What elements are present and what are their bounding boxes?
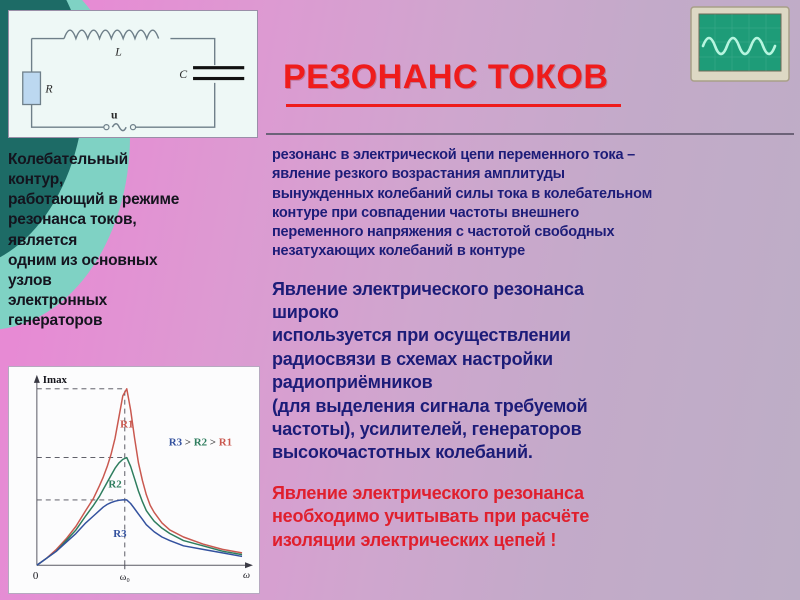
- oscilloscope: [690, 6, 790, 82]
- resistor-symbol: [23, 72, 41, 104]
- oscilloscope-svg: [690, 6, 790, 82]
- resonance-chart-svg: Imax ω 0 ω₀ R1R2R3 R3 > R2 > R1: [9, 367, 259, 593]
- inductor-symbol: [64, 30, 159, 38]
- usage-line: широко: [272, 301, 792, 324]
- definition-line: контуре при совпадении частоты внешнего: [272, 204, 792, 223]
- chart-curve-r2: [37, 458, 242, 566]
- ac-source-symbol: [104, 124, 136, 131]
- left-text-line: одним из основных: [8, 251, 260, 271]
- origin-label: 0: [33, 570, 39, 582]
- title-underline: [286, 104, 621, 107]
- definition-line: переменного напряжения с частотой свобод…: [272, 223, 792, 242]
- usage-line: используется при осуществлении: [272, 324, 792, 347]
- left-text-block: Колебательный контур, работающий в режим…: [8, 150, 260, 331]
- usage-line: Явление электрического резонанса: [272, 278, 792, 301]
- usage-line: радиосвязи в схемах настройки: [272, 348, 792, 371]
- definition-line: вынужденных колебаний силы тока в колеба…: [272, 185, 792, 204]
- slide-title: РЕЗОНАНС ТОКОВ: [283, 58, 608, 97]
- x-axis-arrow: [245, 562, 253, 568]
- left-text-line: является: [8, 231, 260, 251]
- usage-line: частоты), усилителей, генераторов: [272, 418, 792, 441]
- chart-legend-note: R3 > R2 > R1: [169, 436, 232, 448]
- left-text-line: работающий в режиме: [8, 190, 260, 210]
- x-axis-label: ω: [243, 570, 250, 581]
- definition-paragraph: резонанс в электрической цепи переменног…: [272, 146, 792, 262]
- header-divider: [266, 133, 794, 135]
- usage-line: радиоприёмников: [272, 371, 792, 394]
- circuit-diagram-panel: L R C u: [8, 10, 258, 138]
- warning-line: необходимо учитывать при расчёте: [272, 505, 792, 528]
- series-label-r1: R1: [120, 419, 133, 431]
- warning-line: Явление электрического резонанса: [272, 482, 792, 505]
- left-text-line: узлов: [8, 271, 260, 291]
- legend-inequality: R3 > R2 > R1: [169, 436, 232, 448]
- left-text-line: электронных: [8, 291, 260, 311]
- chart-curves: [37, 389, 242, 565]
- right-content-column: резонанс в электрической цепи переменног…: [272, 146, 792, 552]
- warning-line: изоляции электрических цепей !: [272, 529, 792, 552]
- definition-line: незатухающих колебаний в контуре: [272, 242, 792, 261]
- definition-line: явление резкого возрастания амплитуды: [272, 165, 792, 184]
- chart-curve-r3: [37, 500, 242, 565]
- usage-paragraph: Явление электрического резонанса широко …: [272, 278, 792, 465]
- left-text-line: контур,: [8, 170, 260, 190]
- left-text-line: Колебательный: [8, 150, 260, 170]
- left-text-line: генераторов: [8, 311, 260, 331]
- chart-series-labels: R1R2R3: [108, 419, 133, 540]
- capacitor-label: C: [179, 67, 187, 81]
- series-rlc-circuit-svg: L R C u: [9, 11, 257, 137]
- y-axis-label: Imax: [43, 374, 68, 386]
- oscilloscope-screen: [699, 14, 781, 71]
- usage-line: (для выделения сигнала требуемой: [272, 395, 792, 418]
- left-text-line: резонанса токов,: [8, 210, 260, 230]
- resistor-label: R: [44, 82, 53, 96]
- resonance-curve-chart: Imax ω 0 ω₀ R1R2R3 R3 > R2 > R1: [8, 366, 260, 594]
- warning-paragraph: Явление электрического резонанса необход…: [272, 482, 792, 552]
- omega-zero-tick-label: ω₀: [120, 572, 130, 583]
- y-axis-arrow: [34, 375, 40, 383]
- inductor-label: L: [114, 44, 122, 58]
- series-label-r2: R2: [108, 479, 121, 491]
- source-label: u: [111, 107, 118, 121]
- capacitor-symbol: [193, 66, 244, 80]
- series-label-r3: R3: [113, 528, 127, 540]
- definition-line: резонанс в электрической цепи переменног…: [272, 146, 792, 165]
- usage-line: высокочастотных колебаний.: [272, 441, 792, 464]
